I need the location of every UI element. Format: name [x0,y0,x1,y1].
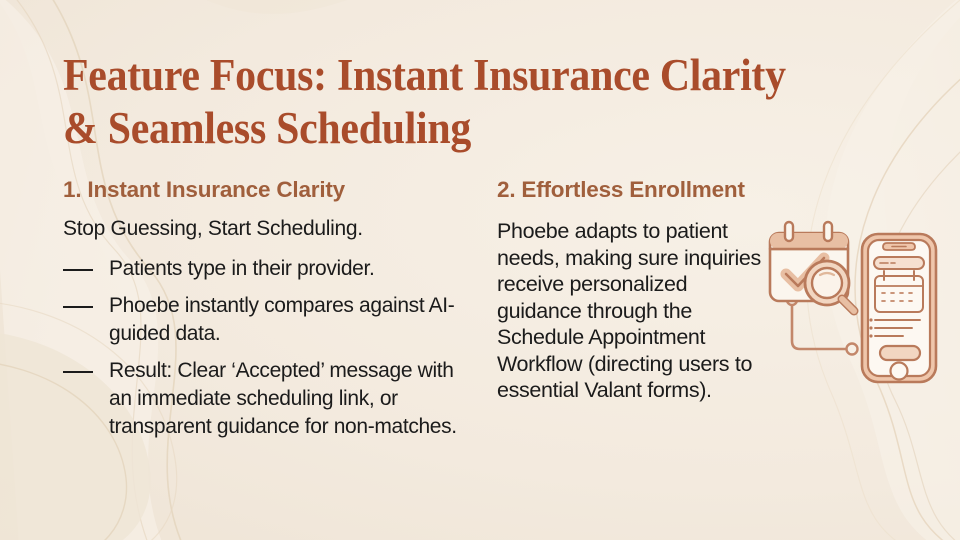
slide-root: Feature Focus: Instant Insurance Clarity… [0,0,960,540]
column-left: 1. Instant Insurance Clarity Stop Guessi… [63,176,463,450]
section-heading-instant-insurance-clarity: 1. Instant Insurance Clarity [63,176,463,203]
section-paragraph: Phoebe adapts to patient needs, making s… [497,218,765,404]
em-dash-bullet-icon [63,371,93,373]
section-lede: Stop Guessing, Start Scheduling. [63,215,463,242]
list-item: Phoebe instantly compares against AI-gui… [63,292,463,348]
list-item-label: Phoebe instantly compares against AI-gui… [109,292,463,348]
page-title: Feature Focus: Instant Insurance Clarity… [63,49,863,155]
list-item-label: Result: Clear ‘Accepted’ message with an… [109,357,463,441]
list-item: Result: Clear ‘Accepted’ message with an… [63,357,463,441]
smartphone-booking-icon [862,234,936,382]
list-item: Patients type in their provider. [63,255,463,283]
bullet-list: Patients type in their provider. Phoebe … [63,255,463,441]
column-right: 2. Effortless Enrollment Phoebe adapts t… [497,176,765,404]
calendar-search-phone-illustration [756,216,948,398]
section-heading-effortless-enrollment: 2. Effortless Enrollment [497,176,765,203]
list-item-label: Patients type in their provider. [109,255,374,283]
em-dash-bullet-icon [63,269,93,271]
em-dash-bullet-icon [63,306,93,308]
